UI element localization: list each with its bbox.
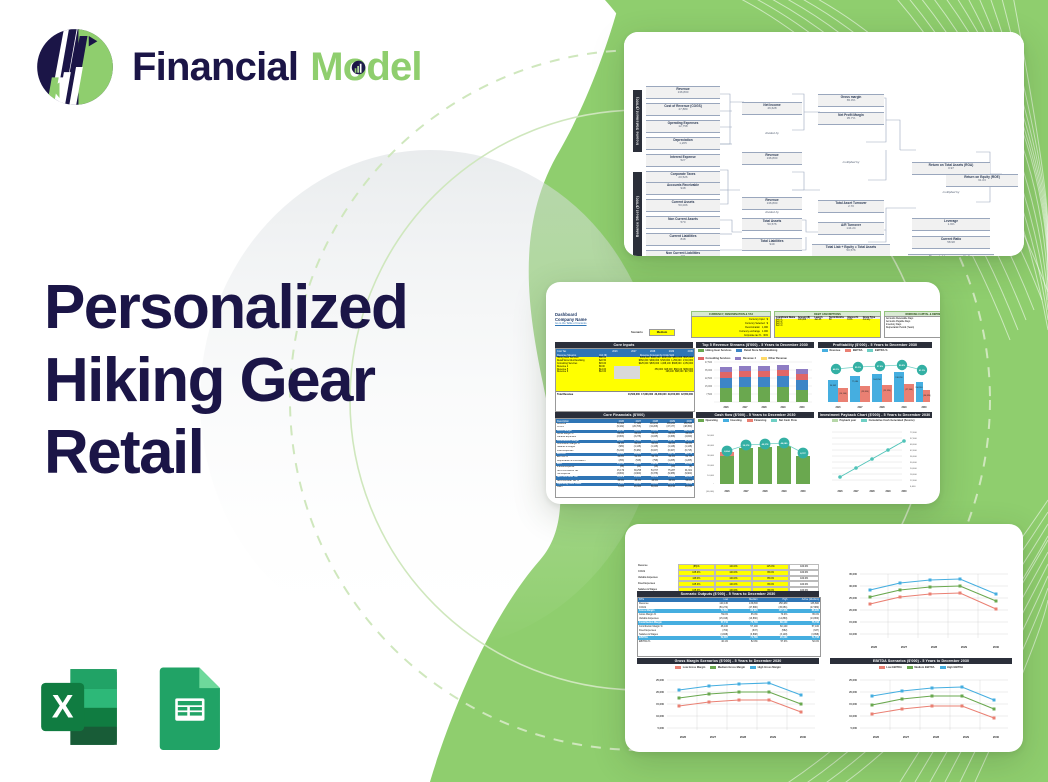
svg-text:10,000: 10,000 [707,475,714,477]
svg-text:18,000: 18,000 [910,474,917,476]
svg-text:(27,366): (27,366) [905,389,913,391]
currency-block-body: Currency Input $ Currency Selected $ Den… [691,316,771,338]
svg-text:2027: 2027 [743,491,749,493]
svg-text:55.1%: 55.1% [855,367,861,369]
svg-text:10,000: 10,000 [656,714,664,718]
svg-text:2030: 2030 [800,735,807,739]
dashboard-toc-link[interactable]: Go to the Table of Contents [555,322,587,325]
core-financials-table: Description 20262027 20282029 2030 Reven… [555,418,695,498]
scenarios-card[interactable]: Revenue (85)% 100.0% 115.0% 100.0% COGS … [625,524,1023,752]
svg-text:57,000: 57,000 [910,438,917,440]
svg-text:25,000: 25,000 [849,678,857,682]
table-row: EBITDA %40.1%52.0%57.0%52.0% [638,640,820,644]
svg-text:47,500: 47,500 [705,362,713,364]
flowchart-node: Financial Leverage multiplier63.22 [908,254,994,256]
svg-text:(23,810): (23,810) [861,391,869,393]
supported-apps: X [36,664,232,750]
svg-text:2028: 2028 [933,735,940,739]
flowchart-node: Return on Equity (ROE)61.03 [946,174,1018,187]
svg-text:22,500: 22,500 [705,378,713,380]
svg-text:48,000: 48,000 [910,444,917,446]
flowchart-node: Total Assets50,576 [742,218,802,231]
profitability-chart: 48.1%55.1%57.0% 59.0%61.1% 34,302(14,106… [818,356,932,410]
svg-text:2030: 2030 [993,645,1000,649]
svg-text:(10,000): (10,000) [706,491,714,493]
svg-text:10,000: 10,000 [849,714,857,718]
cash-flow-panel-title: Cash flow ($'000) - 5 Years to December … [696,412,814,418]
logo-o-chart-icon [351,60,366,75]
logo-wordmark: Financial Model [132,47,422,87]
svg-text:(14,106): (14,106) [839,393,847,395]
svg-text:40,000: 40,000 [707,445,714,447]
svg-text:2027: 2027 [857,407,863,409]
svg-text:61.1%: 61.1% [919,370,925,372]
flowchart-node: Leverage1.9% [912,218,990,231]
svg-text:30,000: 30,000 [849,584,857,588]
cash-flow-legend: Operating Investing Financing Net Cash F… [698,419,814,422]
svg-text:2026: 2026 [680,735,687,739]
svg-text:2029: 2029 [901,407,907,409]
flowchart-node: Current Ratio58.98 [912,236,990,249]
svg-text:10,000: 10,000 [849,632,857,636]
revenue-streams-chart: 47,50035,00022,500 15,0007,500 202620272… [696,358,814,410]
svg-text:35,000: 35,000 [849,572,857,576]
svg-text:2028: 2028 [762,491,768,493]
flowchart-node: Total Liabilities949 [742,238,802,251]
svg-text:59.0%: 59.0% [899,365,905,367]
flowchart-node: Interest Expense527 [646,154,720,167]
svg-text:2029: 2029 [781,491,787,493]
svg-text:15,000: 15,000 [705,386,713,388]
page-title: Personalized Hiking Gear Retail [44,272,407,490]
svg-text:42,000: 42,000 [910,450,917,452]
svg-text:2028: 2028 [869,491,875,493]
svg-text:2029: 2029 [963,735,970,739]
svg-text:15,000: 15,000 [849,702,857,706]
svg-text:7,500: 7,500 [706,394,712,396]
svg-text:24,000: 24,000 [910,468,917,470]
svg-text:20,000: 20,000 [656,690,664,694]
dashboard-card[interactable]: Dashboard Company Name Go to the Table o… [546,282,940,504]
flowchart-node: Non Current Liabilities101 [646,250,720,256]
flowchart-node: Cost of Revenue (COGS)47,880 [646,103,720,116]
svg-text:2029: 2029 [885,491,891,493]
svg-text:30,000: 30,000 [910,462,917,464]
svg-text:2029: 2029 [961,645,968,649]
gross-margin-scenarios-chart: 25,00020,00015,000 10,0005,000 202620272… [637,672,819,742]
svg-text:2029: 2029 [780,407,786,409]
investment-payback-legend: Payback year Cumulative Cash Generated (… [832,419,932,422]
scenario-label: Scenario [631,330,643,334]
svg-text:2029: 2029 [770,735,777,739]
svg-text:77,080: 77,080 [852,381,859,383]
svg-text:2030: 2030 [993,735,1000,739]
svg-text:104,234: 104,234 [873,379,881,381]
svg-text:136,290: 136,290 [895,377,903,379]
svg-text:72,000: 72,000 [910,432,917,434]
svg-text:36,000: 36,000 [910,456,917,458]
svg-text:2030: 2030 [901,491,907,493]
svg-text:2026: 2026 [873,735,880,739]
svg-text:57.0%: 57.0% [877,366,883,368]
svg-text:46,089: 46,089 [781,442,788,445]
svg-text:2027: 2027 [903,735,910,739]
svg-text:40,278: 40,278 [762,443,769,446]
flowchart-node: Gross margin65.0% [818,94,884,107]
svg-text:2026: 2026 [835,407,841,409]
brand-logo: Financial Model [32,24,422,110]
poster-stage: Financial Model Personalized Hiking Gear… [0,0,1048,782]
svg-text:(34,820): (34,820) [923,395,931,397]
flowchart-operator: divided by [742,210,802,214]
svg-text:34,302: 34,302 [830,385,837,387]
svg-text:2026: 2026 [837,491,843,493]
svg-text:20,000: 20,000 [849,608,857,612]
svg-text:2030: 2030 [921,407,927,409]
svg-text:(25,320): (25,320) [883,390,891,392]
svg-text:30,000: 30,000 [707,455,714,457]
svg-text:48.1%: 48.1% [833,368,839,371]
svg-text:12,000: 12,000 [910,480,917,482]
flowchart-node: Net Income46,628 [742,102,802,115]
flowchart-node: A/R Turnover144.24 [818,222,884,235]
sensitivity-table: Revenue (85)% 100.0% 115.0% 100.0% COGS … [637,564,819,590]
dashboard-header: Dashboard Company Name Go to the Table o… [555,312,587,325]
svg-text:6,000: 6,000 [910,486,916,488]
ebitda-scenarios-panel-title: EBITDA Scenarios ($'000) - 5 Years to De… [830,658,1012,664]
flowchart-node: Current Assets50,006 [646,199,720,212]
svg-text:2028: 2028 [931,645,938,649]
svg-text:8,604: 8,604 [724,450,730,453]
svg-text:2028: 2028 [761,407,767,409]
svg-text:15,000: 15,000 [656,702,664,706]
core-inputs-table: Cost Tax 20262027 20282029 2030 Revenue … [555,348,695,412]
svg-text:X: X [52,687,74,724]
flowchart-operator: multiplied by [818,160,884,164]
svg-text:30,278: 30,278 [743,445,750,447]
gross-margin-legend: Low Gross Margin Medium Gross Margin Hig… [637,666,819,669]
svg-text:25,000: 25,000 [849,596,857,600]
investment-payback-chart: 72,00057,00048,000 42,00036,00030,000 24… [818,426,932,496]
scenario-outputs-table: KPIsLow MediumHigh Active (Medium) Reven… [637,597,821,657]
scenario-top-chart: 35,00030,00025,000 20,00015,00010,000 20… [830,564,1012,654]
svg-text:35,000: 35,000 [705,370,713,372]
dupont-flowchart-card[interactable]: Income Statement ($'000) Balance Sheet (… [624,32,1024,256]
svg-text:25,000: 25,000 [656,678,664,682]
flowchart-node: Accounts Receivable948 [646,182,720,195]
scenario-value[interactable]: Medium [649,329,675,336]
svg-text:20,000: 20,000 [707,465,714,467]
headline-line-1: Personalized [44,272,407,345]
working-capital-block-body: Accounts Receivable Days15 Accounts Paya… [884,316,940,338]
svg-text:2026: 2026 [724,491,730,493]
svg-text:2027: 2027 [742,407,748,409]
svg-text:50,000: 50,000 [707,435,714,437]
flowchart-node: Total Asset Turnover2.70 [818,200,884,213]
logo-text-financial: Financial [132,47,298,87]
financial-model-logo-icon [32,24,118,110]
google-sheets-icon [146,664,232,750]
flowchart-node: Revenue136,800 [646,86,720,99]
svg-text:2027: 2027 [901,645,908,649]
svg-text:2028: 2028 [879,407,885,409]
svg-text:2026: 2026 [723,407,729,409]
svg-text:2026: 2026 [871,645,878,649]
flowchart-operator: multiplied by [912,190,990,194]
svg-text:2030: 2030 [800,491,806,493]
investment-payback-panel-title: Investment Payback Chart ($'000) - 5 Yea… [818,412,932,418]
svg-text:15,000: 15,000 [849,620,857,624]
headline-line-2: Hiking Gear [44,345,407,418]
svg-text:2027: 2027 [853,491,859,493]
svg-text:-: - [713,483,714,485]
flowchart-node: Net Profit Margin35.7% [818,112,884,125]
svg-text:2028: 2028 [740,735,747,739]
svg-text:5,000: 5,000 [658,726,665,730]
gross-margin-scenarios-panel-title: Gross Margin Scenarios ($'000) - 5 Years… [637,658,819,664]
flowchart-operator: divided by [742,131,802,135]
flowchart-node: Non Current Assets570 [646,216,720,229]
debt-block-body: Loan/Grant Name Amount ($) Launch Term/ … [774,316,881,338]
microsoft-excel-icon: X [36,664,122,750]
flowchart-node: Revenue136,800 [742,152,802,165]
headline-line-3: Retail [44,417,407,490]
svg-text:2030: 2030 [799,407,805,409]
svg-text:150,510: 150,510 [915,387,923,389]
flowchart-node: Operating Expenses12,758 [646,120,720,133]
top-revenue-panel-title: Top 5 Revenue Streams ($'000) - 5 Years … [696,342,814,348]
ebitda-legend: Low EBITDA Medium EBITDA High EBITDA [830,666,1012,669]
flowchart-node: Revenue136,800 [742,197,802,210]
flowchart-node: Total Liab + Equity = Total Assets50,576 [812,244,890,256]
logo-text-model: Model [310,47,422,87]
svg-text:8,727: 8,727 [800,453,806,455]
table-row: Cash8,40028,30069,40088,19048,090 [556,486,694,489]
flowchart-node: Current Liabilities848 [646,233,720,246]
ebitda-scenarios-chart: 25,00020,00015,000 10,0005,000 202620272… [830,672,1012,742]
svg-text:2027: 2027 [710,735,717,739]
svg-text:5,000: 5,000 [851,726,858,730]
profitability-panel-title: Profitability ($'000) - 5 Years to Decem… [818,342,932,348]
profitability-legend: Revenue EBITDA EBITDA % [822,349,932,352]
svg-text:20,000: 20,000 [849,690,857,694]
cash-flow-chart: 50,00040,00030,000 20,00010,000-(10,000)… [696,426,814,496]
flowchart-node: Depreciation1,265 [646,137,720,150]
